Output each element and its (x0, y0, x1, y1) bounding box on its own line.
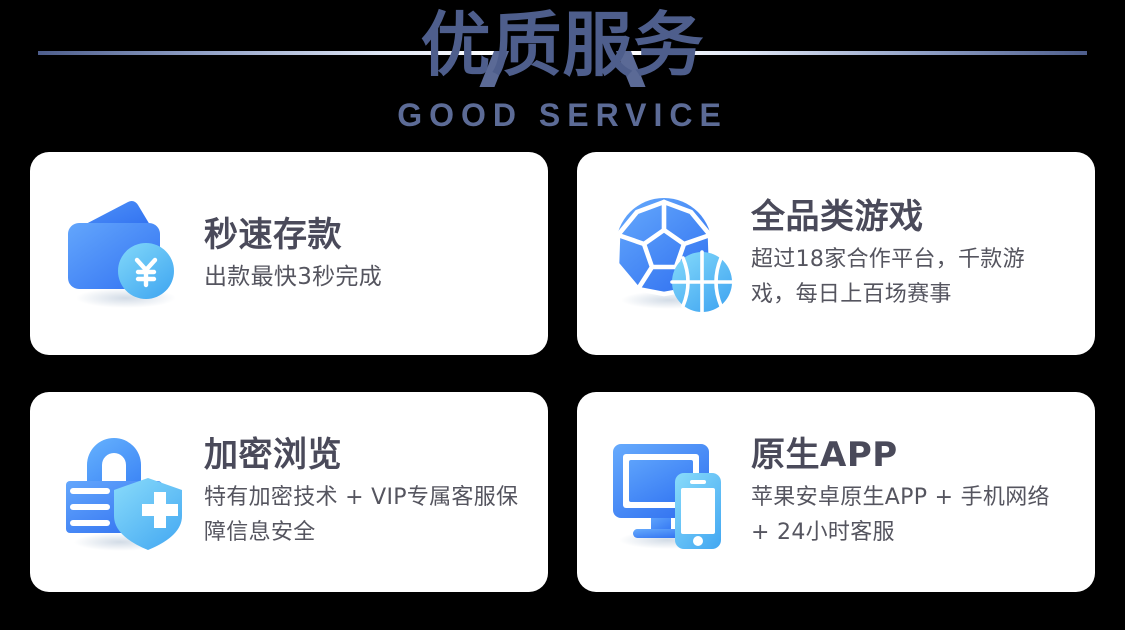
card-description: 超过18家合作平台，千款游戏，每日上百场赛事 (751, 242, 1069, 312)
card-title: 秒速存款 (204, 214, 522, 256)
card-text-block: 原生APP 苹果安卓原生APP + 手机网络 + 24小时客服 (751, 434, 1069, 550)
card-description: 苹果安卓原生APP + 手机网络 + 24小时客服 (751, 480, 1069, 550)
card-title: 全品类游戏 (751, 196, 1069, 238)
card-text-block: 秒速存款 出款最快3秒完成 (204, 214, 522, 294)
banner-header: 优质服务 GOOD SERVICE (0, 0, 1125, 148)
feature-card-encryption[interactable]: 加密浏览 特有加密技术 + VIP专属客服保障信息安全 (30, 392, 548, 592)
card-description: 出款最快3秒完成 (204, 260, 522, 294)
lock-shield-icon (60, 428, 188, 556)
feature-card-grid: 秒速存款 出款最快3秒完成 (30, 152, 1095, 592)
promo-banner: 优质服务 GOOD SERVICE (0, 0, 1125, 630)
monitor-phone-icon (607, 428, 735, 556)
card-description: 特有加密技术 + VIP专属客服保障信息安全 (204, 480, 522, 550)
feature-card-deposit[interactable]: 秒速存款 出款最快3秒完成 (30, 152, 548, 355)
soccer-basketball-icon (607, 190, 735, 318)
card-title: 加密浏览 (204, 434, 522, 476)
wallet-icon (60, 190, 188, 318)
page-title: 优质服务 (0, 2, 1125, 88)
feature-card-games[interactable]: 全品类游戏 超过18家合作平台，千款游戏，每日上百场赛事 (577, 152, 1095, 355)
card-text-block: 加密浏览 特有加密技术 + VIP专属客服保障信息安全 (204, 434, 522, 550)
page-subtitle: GOOD SERVICE (0, 96, 1125, 134)
card-title: 原生APP (751, 434, 1069, 476)
card-text-block: 全品类游戏 超过18家合作平台，千款游戏，每日上百场赛事 (751, 196, 1069, 312)
feature-card-native-app[interactable]: 原生APP 苹果安卓原生APP + 手机网络 + 24小时客服 (577, 392, 1095, 592)
